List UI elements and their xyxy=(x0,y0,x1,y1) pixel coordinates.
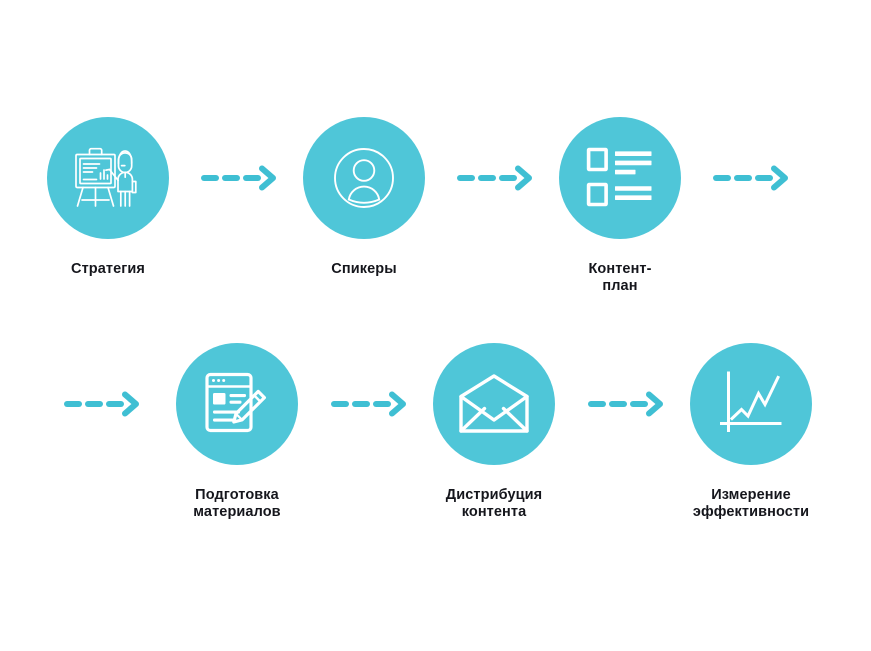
arrow-distribution-to-measurement xyxy=(586,389,670,419)
dashed-arrow-right-icon xyxy=(199,163,283,193)
step-icon-circle-strategy xyxy=(47,117,169,239)
diagram-canvas: Стратегия Спикеры xyxy=(0,0,871,651)
checklist-lines-icon xyxy=(586,146,654,210)
document-pencil-edit-icon xyxy=(202,369,272,439)
step-icon-circle-measurement xyxy=(690,343,812,465)
presentation-board-presenter-icon xyxy=(71,143,145,213)
step-label-content-plan: Контент- план xyxy=(588,261,651,295)
step-icon-circle-preparation xyxy=(176,343,298,465)
arrow-strategy-to-speakers xyxy=(199,163,283,193)
arrow-wrap-to-preparation xyxy=(62,389,146,419)
step-icon-circle-distribution xyxy=(433,343,555,465)
dashed-arrow-right-icon xyxy=(711,163,795,193)
arrow-speakers-to-contentplan xyxy=(455,163,539,193)
step-label-speakers: Спикеры xyxy=(331,261,396,278)
step-node-content-plan[interactable]: Контент- план xyxy=(559,117,681,295)
dashed-arrow-right-icon xyxy=(62,389,146,419)
dashed-arrow-right-icon xyxy=(586,389,670,419)
step-node-strategy[interactable]: Стратегия xyxy=(47,117,169,278)
growth-line-chart-icon xyxy=(718,371,784,437)
user-avatar-circle-icon xyxy=(326,140,402,216)
arrow-preparation-to-distribution xyxy=(329,389,413,419)
step-label-strategy: Стратегия xyxy=(71,261,145,278)
open-envelope-mail-icon xyxy=(457,373,531,435)
step-node-preparation[interactable]: Подготовка материалов xyxy=(176,343,298,521)
arrow-contentplan-to-wrap xyxy=(711,163,795,193)
step-label-measurement: Измерение эффективности xyxy=(693,487,809,521)
step-label-distribution: Дистрибуция контента xyxy=(446,487,542,521)
dashed-arrow-right-icon xyxy=(455,163,539,193)
step-node-speakers[interactable]: Спикеры xyxy=(303,117,425,278)
step-icon-circle-speakers xyxy=(303,117,425,239)
step-icon-circle-content-plan xyxy=(559,117,681,239)
step-node-measurement[interactable]: Измерение эффективности xyxy=(690,343,812,521)
step-label-preparation: Подготовка материалов xyxy=(193,487,280,521)
step-node-distribution[interactable]: Дистрибуция контента xyxy=(433,343,555,521)
dashed-arrow-right-icon xyxy=(329,389,413,419)
